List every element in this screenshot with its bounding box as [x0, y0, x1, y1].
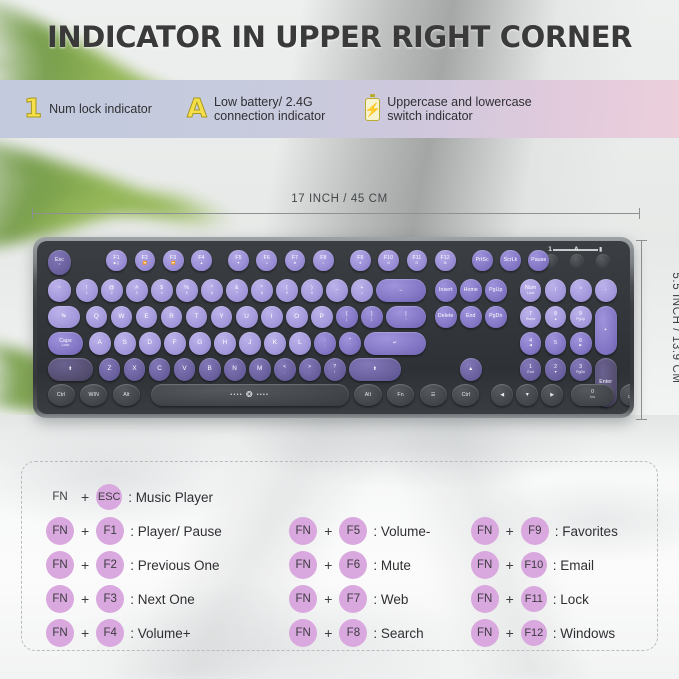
key-label: Q	[94, 314, 99, 321]
key-[interactable]: *8	[251, 279, 273, 302]
key-v[interactable]: V	[174, 358, 196, 381]
key-label: PgDn	[489, 314, 502, 319]
indicator-banner: 1 Num lock indicator A Low battery/ 2.4G…	[0, 80, 679, 138]
key-sublabel: ✉	[387, 262, 390, 266]
key-g[interactable]: G	[189, 332, 211, 355]
key-w[interactable]: W	[111, 306, 133, 329]
key-sublabel: ♫	[265, 262, 268, 266]
key-sublabel: ▲	[554, 318, 558, 322]
key-f10[interactable]: F10✉	[378, 250, 399, 272]
plus-symbol: +	[324, 523, 332, 539]
fn-key-badge: FN	[471, 585, 499, 613]
key-f12[interactable]: F12⊞	[435, 250, 456, 272]
key-label: WIN	[89, 393, 99, 398]
shortcut-key-badge: F8	[339, 619, 367, 647]
letter-a-icon: A	[187, 96, 207, 122]
fn-shortcut-row: FN+F11: Lock	[471, 582, 657, 616]
key-[interactable]: }]	[361, 306, 383, 329]
key-[interactable]: $4	[151, 279, 173, 302]
battery-led	[596, 254, 610, 268]
key-label: Z	[108, 366, 112, 373]
plus-symbol: +	[81, 523, 89, 539]
key-sublabel: ⊕	[294, 262, 297, 266]
key-[interactable]: *	[570, 279, 592, 302]
key-2[interactable]: 2▼	[545, 358, 567, 381]
spacebar-dots-right: ••••	[257, 393, 270, 398]
key-[interactable]: (9	[276, 279, 298, 302]
fn-key-badge: FN	[46, 517, 74, 545]
key-3[interactable]: 3PgDn	[570, 358, 592, 381]
shortcut-key-badge: F9	[521, 517, 549, 545]
key-[interactable]: ?/	[324, 358, 346, 381]
key-m[interactable]: M	[249, 358, 271, 381]
key-sublabel: ⌕	[322, 262, 324, 266]
key-[interactable]: +=	[351, 279, 373, 302]
key-[interactable]: /	[545, 279, 567, 302]
key-[interactable]: ↵	[364, 332, 426, 355]
key-delete[interactable]: Delete	[435, 306, 457, 329]
key-6[interactable]: 6▶	[570, 332, 592, 355]
key-n[interactable]: N	[224, 358, 246, 381]
shortcut-description: : Music Player	[128, 490, 213, 505]
key-num[interactable]: NumLock	[520, 279, 542, 302]
key-[interactable]: ▲	[460, 358, 482, 381]
key-sublabel: ▼	[554, 371, 558, 375]
shortcut-key-badge: F5	[339, 517, 367, 545]
key-f7[interactable]: F7⊕	[285, 250, 306, 272]
key-sublabel: 4	[161, 292, 163, 296]
indicator-label-battery: Low battery/ 2.4G connection indicator	[214, 95, 325, 124]
key-label: L	[298, 340, 302, 347]
shortcut-key-badge: F10	[521, 552, 547, 578]
key-sublabel: PgUp	[576, 318, 585, 322]
spacebar-logo: ••••❂••••	[230, 391, 269, 399]
key-sublabel: ◀	[529, 344, 532, 348]
key-sublabel: Lock	[527, 292, 535, 296]
key-[interactable]: ←	[376, 279, 426, 302]
key-t[interactable]: T	[186, 306, 208, 329]
key-label: ◀	[500, 393, 504, 398]
key-sublabel: -	[336, 292, 337, 296]
key-f2[interactable]: F2⏪	[135, 250, 156, 272]
key-sublabel: ⊟	[415, 262, 418, 266]
shortcut-description: : Search	[373, 626, 423, 641]
key-sublabel: 8	[261, 292, 263, 296]
indicator-label-caps: Uppercase and lowercase switch indicator	[387, 95, 532, 124]
key-label: ↹	[62, 314, 66, 319]
key-label: Fn	[397, 393, 403, 398]
fn-key-badge: FN	[289, 551, 317, 579]
fn-shortcut-row: FN+F4: Volume+	[46, 616, 289, 650]
fn-shortcut-row: FN+F12: Windows	[471, 616, 657, 650]
key-sublabel: Del	[628, 396, 630, 400]
led-mark-caps: A	[574, 246, 579, 253]
key-l[interactable]: L	[289, 332, 311, 355]
fn-shortcut-row: FN+F3: Next One	[46, 582, 289, 616]
key-label: J	[248, 340, 251, 347]
fn-shortcut-row: FN+F9: Favorites	[471, 514, 657, 548]
keyboard-width-dimension-line	[32, 213, 640, 214]
key-label: Alt	[365, 393, 371, 398]
column-1: FN+ESC: Music PlayerFN+F1: Player/ Pause…	[22, 480, 289, 650]
key-[interactable]: ▼	[516, 384, 538, 406]
indicator-led-group: 1 A ▮	[544, 246, 616, 270]
indicator-label-numlock: Num lock indicator	[49, 102, 152, 117]
key-sublabel: ⊞	[444, 262, 447, 266]
spacebar-dots-left: ••••	[230, 393, 243, 398]
key-sublabel: [	[346, 318, 347, 322]
key-y[interactable]: Y	[211, 306, 233, 329]
shortcut-description: : Next One	[130, 592, 195, 607]
key-label: V	[182, 366, 186, 373]
shortcut-key-badge: F11	[521, 586, 547, 612]
key-prtsc[interactable]: PrtSc	[472, 250, 493, 272]
key-sublabel: ⏪	[143, 262, 147, 266]
plus-symbol: +	[506, 557, 514, 573]
dimension-tick-top	[636, 240, 647, 241]
key-sublabel: `	[59, 292, 60, 296]
key-sublabel: 5	[186, 292, 188, 296]
key-[interactable]: ↹	[48, 306, 81, 329]
shortcut-key-badge: F7	[339, 585, 367, 613]
key-label: Ctrl	[57, 393, 65, 398]
fn-key-badge: FN	[46, 483, 74, 511]
key-sublabel: ★	[359, 262, 362, 266]
key-sublabel: Lock	[62, 344, 70, 348]
key-c[interactable]: C	[149, 358, 171, 381]
column-3: FN+F9: FavoritesFN+F10: EmailFN+F11: Loc…	[471, 480, 657, 650]
fn-key-badge: FN	[471, 619, 499, 647]
shortcut-description: : Email	[553, 558, 594, 573]
key-8[interactable]: 8▲	[545, 306, 567, 329]
shortcut-description: : Mute	[373, 558, 411, 573]
key-label: PgUp	[489, 288, 502, 293]
key-[interactable]: <,	[274, 358, 296, 381]
key-[interactable]: )0	[301, 279, 323, 302]
key-[interactable]: ~`	[48, 279, 72, 302]
key-label: /	[555, 288, 557, 293]
plus-symbol: +	[324, 625, 332, 641]
key-[interactable]: ☰	[420, 384, 447, 406]
key-label: T	[195, 314, 199, 321]
keyboard-width-label: 17 INCH / 45 CM	[0, 193, 679, 205]
key-f1[interactable]: F1▶❙	[106, 250, 127, 272]
key-label: E	[144, 314, 148, 321]
key-label: PrtSc	[476, 258, 489, 263]
key-alt[interactable]: Alt	[354, 384, 381, 406]
key-label: Y	[219, 314, 223, 321]
key-label: Delete	[438, 314, 454, 319]
key-label: ▲	[468, 367, 473, 372]
key-spacebar[interactable]: ••••❂••••	[151, 384, 349, 406]
page-title: INDICATOR IN UPPER RIGHT CORNER	[0, 20, 679, 54]
key-z[interactable]: Z	[99, 358, 121, 381]
plus-symbol: +	[506, 523, 514, 539]
key-label: ☰	[431, 393, 436, 398]
shortcut-key-badge: F6	[339, 551, 367, 579]
fn-key-badge: FN	[289, 619, 317, 647]
plus-symbol: +	[81, 557, 89, 573]
key-j[interactable]: J	[239, 332, 261, 355]
key-i[interactable]: I	[261, 306, 283, 329]
key-o[interactable]: O	[286, 306, 308, 329]
led-mark-numlock: 1	[548, 246, 552, 253]
key-[interactable]: "'	[339, 332, 361, 355]
key-sublabel: ▶❙	[114, 262, 120, 266]
key-[interactable]: #3	[126, 279, 148, 302]
fn-shortcut-row: FN+F8: Search	[289, 616, 470, 650]
key-sublabel: .	[309, 371, 310, 375]
led-mark-battery: ▮	[599, 246, 602, 253]
key-q[interactable]: Q	[86, 306, 108, 329]
key-label: ScrLk	[504, 258, 518, 263]
key-label: C	[157, 366, 162, 373]
key-[interactable]: ▶	[541, 384, 563, 406]
key-end[interactable]: End	[460, 306, 482, 329]
key-1[interactable]: 1End	[520, 358, 542, 381]
key-[interactable]: >.	[299, 358, 321, 381]
key-[interactable]: .Del	[620, 384, 630, 406]
key-sublabel: ⏩	[171, 262, 175, 266]
key-sublabel: ▲	[200, 262, 204, 266]
fn-key-badge: FN	[471, 517, 499, 545]
indicator-item-caps: ⚡ Uppercase and lowercase switch indicat…	[365, 95, 532, 124]
fn-shortcut-row: FN+ESC: Music Player	[46, 480, 289, 514]
key-label: Pause	[531, 258, 546, 263]
fn-key-badge: FN	[289, 517, 317, 545]
key-[interactable]: !1	[76, 279, 98, 302]
key-[interactable]: ⬆	[48, 358, 94, 381]
key-sublabel: ▶	[579, 344, 582, 348]
key-label: N	[232, 366, 237, 373]
fn-shortcut-legend: FN+ESC: Music PlayerFN+F1: Player/ Pause…	[21, 461, 658, 651]
key-p[interactable]: P	[311, 306, 333, 329]
key-[interactable]: +	[595, 306, 617, 355]
plus-symbol: +	[81, 625, 89, 641]
key-[interactable]: ⬆	[349, 358, 401, 381]
key-sublabel: /	[334, 371, 335, 375]
key-label: P	[320, 314, 324, 321]
fn-shortcut-row: FN+F6: Mute	[289, 548, 470, 582]
plus-symbol: +	[324, 557, 332, 573]
key-sublabel: ]	[371, 318, 372, 322]
battery-bolt-icon: ⚡	[365, 98, 380, 121]
key-4[interactable]: 4◀	[520, 332, 542, 355]
key-sublabel: ♪	[59, 263, 61, 267]
key-label: ⬆	[373, 367, 377, 372]
key-sublabel: 9	[286, 292, 288, 296]
dimension-tick-right	[639, 208, 640, 219]
plus-symbol: +	[506, 591, 514, 607]
key-fn[interactable]: Fn	[387, 384, 414, 406]
key-b[interactable]: B	[199, 358, 221, 381]
indicator-item-battery: A Low battery/ 2.4G connection indicator	[187, 95, 325, 124]
fn-shortcut-row: FN+F2: Previous One	[46, 548, 289, 582]
key-f3[interactable]: F3⏩	[163, 250, 184, 272]
key-label: 5	[554, 341, 557, 346]
plus-symbol: +	[324, 591, 332, 607]
key-label: M	[257, 366, 262, 373]
fn-key-badge: FN	[46, 619, 74, 647]
key-label: B	[207, 366, 211, 373]
key-home[interactable]: Home	[460, 279, 482, 302]
key-label: U	[244, 314, 249, 321]
key-[interactable]: &7	[226, 279, 248, 302]
shortcut-description: : Player/ Pause	[130, 524, 222, 539]
key-label: R	[169, 314, 174, 321]
key-label: ▼	[525, 393, 530, 398]
key-e[interactable]: E	[136, 306, 158, 329]
plus-symbol: +	[81, 489, 89, 505]
key-u[interactable]: U	[236, 306, 258, 329]
shortcut-description: : Favorites	[555, 524, 618, 539]
fn-shortcut-row: FN+F1: Player/ Pause	[46, 514, 289, 548]
keyboard-key-deck: 1 A ▮ Esc♪F1▶❙F2⏪F3⏩F4▲F5▼F6♫F7⊕F8⌕F9★F1…	[37, 241, 630, 414]
dimension-tick-left	[32, 208, 33, 219]
key-d[interactable]: D	[139, 332, 161, 355]
key-5[interactable]: 5	[545, 332, 567, 355]
indicator-item-numlock: 1 Num lock indicator	[24, 96, 152, 122]
key-sublabel: 0	[311, 292, 313, 296]
key-k[interactable]: K	[264, 332, 286, 355]
key-sublabel: PgDn	[576, 371, 585, 375]
product-infographic: INDICATOR IN UPPER RIGHT CORNER 1 Num lo…	[0, 0, 679, 679]
column-2: FN+F5: Volume-FN+F6: MuteFN+F7: WebFN+F8…	[289, 480, 470, 650]
key-[interactable]: -	[595, 279, 617, 302]
key-label: Home	[464, 288, 478, 293]
key-label: +	[604, 328, 607, 333]
key-label: Insert	[439, 288, 453, 293]
brand-logo-icon: ❂	[246, 391, 254, 399]
key-f5[interactable]: F5▼	[228, 250, 249, 272]
shortcut-key-badge: F4	[96, 619, 124, 647]
key-sublabel: 1	[86, 292, 88, 296]
num-lock-digit-icon: 1	[24, 96, 42, 122]
key-f11[interactable]: F11⊟	[407, 250, 428, 272]
key-label: -	[605, 288, 607, 293]
key-label: I	[271, 314, 273, 321]
key-ctrl[interactable]: Ctrl	[452, 384, 479, 406]
key-f9[interactable]: F9★	[350, 250, 371, 272]
key-sublabel: 2	[111, 292, 113, 296]
key-label: W	[118, 314, 124, 321]
key-9[interactable]: 9PgUp	[570, 306, 592, 329]
shortcut-description: : Web	[373, 592, 408, 607]
shortcut-key-badge: F1	[96, 517, 124, 545]
key-sublabel: Ins	[590, 396, 595, 400]
key-label: ←	[398, 288, 403, 293]
fn-shortcut-row: FN+F7: Web	[289, 582, 470, 616]
key-sublabel: 7	[236, 292, 238, 296]
key-h[interactable]: H	[214, 332, 236, 355]
shortcut-key-badge: F2	[96, 551, 124, 579]
key-r[interactable]: R	[161, 306, 183, 329]
key-f6[interactable]: F6♫	[256, 250, 277, 272]
shortcut-description: : Windows	[553, 626, 615, 641]
dimension-tick-bottom	[636, 419, 647, 420]
key-s[interactable]: S	[114, 332, 136, 355]
key-label: ↵	[393, 341, 397, 346]
key-label: K	[273, 340, 277, 347]
key-f4[interactable]: F4▲	[191, 250, 212, 272]
key-ctrl[interactable]: Ctrl	[48, 384, 75, 406]
key-0[interactable]: 0Ins	[571, 384, 615, 406]
key-label: O	[294, 314, 299, 321]
key-label: F	[173, 340, 177, 347]
key-label: Alt	[123, 393, 129, 398]
key-insert[interactable]: Insert	[435, 279, 457, 302]
key-pgup[interactable]: PgUp	[485, 279, 507, 302]
key-label: End	[466, 314, 476, 319]
shortcut-description: : Volume-	[373, 524, 430, 539]
key-f[interactable]: F	[164, 332, 186, 355]
key-[interactable]: ^6	[201, 279, 223, 302]
key-scrlk[interactable]: ScrLk	[500, 250, 521, 272]
key-[interactable]: :;	[314, 332, 336, 355]
key-f8[interactable]: F8⌕	[313, 250, 334, 272]
key-esc[interactable]: Esc♪	[48, 250, 72, 275]
key-label: X	[132, 366, 136, 373]
key-[interactable]: %5	[176, 279, 198, 302]
key-label: A	[98, 340, 102, 347]
key-label: D	[147, 340, 152, 347]
shortcut-description: : Lock	[553, 592, 589, 607]
key-sublabel: '	[350, 344, 351, 348]
key-7[interactable]: 7Home	[520, 306, 542, 329]
key-label: *	[580, 288, 582, 293]
key-caps[interactable]: CapsLock	[48, 332, 84, 355]
key-sublabel: 6	[211, 292, 213, 296]
key-[interactable]: @2	[101, 279, 123, 302]
shortcut-description: : Volume+	[130, 626, 190, 641]
fn-key-badge: FN	[46, 551, 74, 579]
key-sublabel: ▼	[237, 262, 241, 266]
key-label: S	[123, 340, 127, 347]
key-[interactable]: {[	[336, 306, 358, 329]
key-[interactable]: |\	[386, 306, 426, 329]
key-[interactable]: ◀	[491, 384, 513, 406]
key-label: ⬆	[68, 367, 72, 372]
shortcut-key-badge: F12	[521, 620, 547, 646]
key-label: H	[223, 340, 228, 347]
key-sublabel: \	[406, 318, 407, 322]
key-label: G	[197, 340, 202, 347]
plus-symbol: +	[81, 591, 89, 607]
key-[interactable]: _-	[326, 279, 348, 302]
key-win[interactable]: WIN	[80, 384, 107, 406]
key-label: ▶	[550, 393, 554, 398]
keyboard-product-image: 1 A ▮ Esc♪F1▶❙F2⏪F3⏩F4▲F5▼F6♫F7⊕F8⌕F9★F1…	[33, 237, 634, 418]
shortcut-key-badge: ESC	[96, 484, 122, 510]
fn-key-badge: FN	[471, 551, 499, 579]
key-sublabel: 3	[136, 292, 138, 296]
fn-key-badge: FN	[289, 585, 317, 613]
key-label: Ctrl	[462, 393, 470, 398]
shortcut-description: : Previous One	[130, 558, 219, 573]
key-sublabel: ,	[284, 371, 285, 375]
fn-shortcut-row: FN+F10: Email	[471, 548, 657, 582]
key-sublabel: End	[527, 371, 533, 375]
keyboard-height-dimension-line	[641, 240, 642, 420]
shortcut-key-badge: F3	[96, 585, 124, 613]
key-alt[interactable]: Alt	[113, 384, 140, 406]
key-x[interactable]: X	[124, 358, 146, 381]
key-sublabel: =	[361, 292, 363, 296]
key-a[interactable]: A	[89, 332, 111, 355]
keyboard-height-label: 5.5 INCH / 13.9 CM	[670, 248, 679, 408]
key-pgdn[interactable]: PgDn	[485, 306, 507, 329]
caps-lock-led	[570, 254, 584, 268]
